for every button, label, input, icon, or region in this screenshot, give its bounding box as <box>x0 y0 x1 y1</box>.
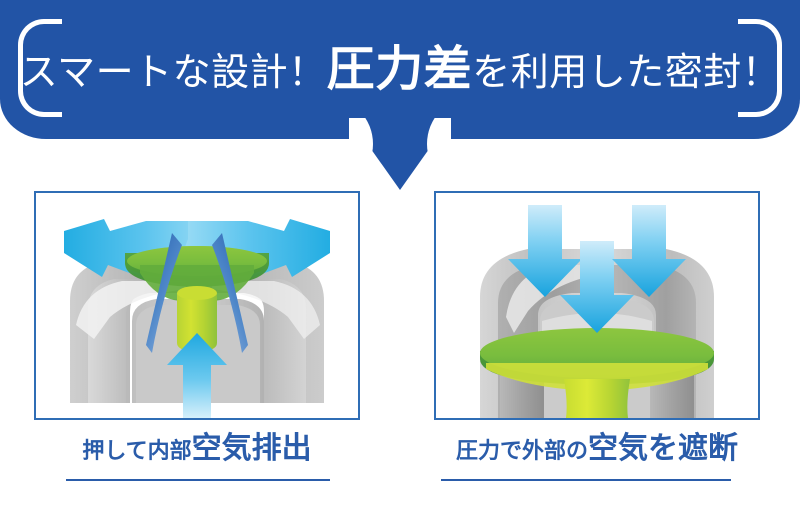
banner-headline-emphasis: 圧力差 <box>327 43 473 96</box>
panel-valve-open <box>34 191 360 420</box>
infographic-root: スマートな設計！圧力差を利用した密封！ <box>0 0 800 516</box>
caption-left: 押して内部空気排出 <box>34 434 360 464</box>
caption-right-emphasis: 空気を遮断 <box>588 432 738 465</box>
illustration-valve-open <box>36 193 358 418</box>
illustration-valve-closed <box>436 193 758 418</box>
caption-left-normal: 押して内部 <box>82 438 191 463</box>
caption-left-rule <box>66 479 330 481</box>
caption-right: 圧力で外部の空気を遮断 <box>434 434 760 464</box>
banner-tail <box>349 118 451 190</box>
caption-left-emphasis: 空気排出 <box>192 432 312 465</box>
valve-stem-top <box>177 286 217 300</box>
banner-headline-part-1: スマートな設計！ <box>20 52 327 94</box>
valve-stem <box>564 379 630 418</box>
caption-right-normal: 圧力で外部の <box>456 438 588 463</box>
caption-right-rule <box>441 479 731 481</box>
banner-headline-part-2: を利用した密封！ <box>472 52 780 94</box>
banner-headline: スマートな設計！圧力差を利用した密封！ <box>0 46 800 94</box>
panel-valve-closed <box>434 191 760 420</box>
